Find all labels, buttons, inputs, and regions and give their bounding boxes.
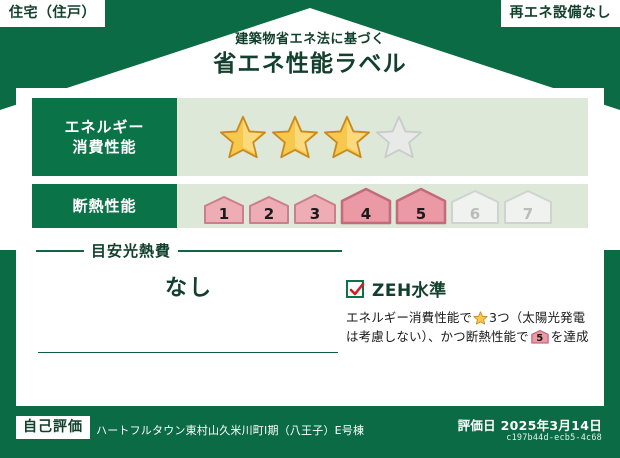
insulation-level-6: 6 — [450, 189, 500, 225]
house-badge-number: 5 — [531, 334, 549, 344]
label-footer: 自己評価 ハートフルタウン東村山久米川町Ⅰ期（八王子）E号棟 評価日 2025年… — [0, 406, 620, 458]
zeh-desc-part2: は考慮しない）、かつ断熱性能で — [346, 329, 529, 344]
zeh-header: ZEH水準 — [346, 276, 592, 301]
checkmark-icon — [346, 280, 364, 298]
insulation-level-number: 1 — [203, 207, 245, 222]
label-card: エネルギー 消費性能 — [16, 88, 604, 406]
badge-renewable-equipment: 再エネ設備なし — [501, 0, 620, 27]
insulation-level-4: 4 — [340, 187, 392, 225]
zeh-block: ZEH水準 エネルギー消費性能で3つ（太陽光発電は考慮しない）、かつ断熱性能で5… — [346, 276, 592, 347]
energy-performance-label: 住宅（住戸） 再エネ設備なし 建築物省エネ法に基づく 省エネ性能ラベル エネルギ… — [0, 0, 620, 458]
evaluation-id: c197b44d-ecb5-4c68 — [506, 433, 602, 443]
star-empty-icon — [375, 114, 423, 160]
zeh-desc-stars: 3つ（太陽光発電 — [489, 310, 585, 325]
zeh-title: ZEH水準 — [372, 276, 447, 301]
zeh-description: エネルギー消費性能で3つ（太陽光発電は考慮しない）、かつ断熱性能で5を達成 — [346, 308, 592, 347]
page-title: 省エネ性能ラベル — [0, 50, 620, 79]
title-subtitle: 建築物省エネ法に基づく — [0, 33, 620, 47]
insulation-level-number: 4 — [340, 207, 392, 222]
property-name: ハートフルタウン東村山久米川町Ⅰ期（八王子）E号棟 — [96, 422, 364, 438]
star-filled-icon — [271, 114, 319, 160]
star-rating — [219, 114, 423, 160]
energy-performance-label: エネルギー 消費性能 — [32, 98, 177, 176]
check-glyph-icon — [349, 282, 365, 298]
insulation-level-number: 2 — [248, 207, 290, 222]
energy-label-line1: エネルギー — [64, 117, 144, 137]
insulation-level-number: 3 — [293, 207, 337, 222]
energy-performance-value — [177, 98, 588, 176]
zeh-desc-part3: を達成 — [551, 329, 589, 344]
utility-cost-header: 目安光熱費 — [36, 240, 342, 261]
self-evaluation-badge: 自己評価 — [16, 416, 90, 439]
insulation-level-number: 7 — [503, 207, 553, 222]
evaluation-date: 評価日 2025年3月14日 — [458, 415, 602, 434]
insulation-label-text: 断熱性能 — [72, 196, 136, 216]
insulation-level-7: 7 — [503, 189, 553, 225]
star-filled-icon — [219, 114, 267, 160]
star-filled-icon — [473, 311, 488, 325]
insulation-performance-value: 1 2 3 — [177, 184, 588, 228]
divider-left — [36, 250, 84, 252]
insulation-level-3: 3 — [293, 193, 337, 225]
row-energy-performance: エネルギー 消費性能 — [32, 98, 588, 176]
zeh-desc-part1: エネルギー消費性能で — [346, 310, 472, 325]
title-block: 建築物省エネ法に基づく 省エネ性能ラベル — [0, 33, 620, 79]
energy-label-line2: 消費性能 — [72, 137, 136, 157]
utility-cost-value: なし — [36, 270, 342, 302]
star-filled-icon — [323, 114, 371, 160]
divider-right — [178, 250, 342, 252]
insulation-level-2: 2 — [248, 195, 290, 225]
insulation-scale: 1 2 3 — [203, 187, 553, 225]
insulation-level-5: 5 — [395, 187, 447, 225]
utility-cost-bottom-divider — [38, 352, 338, 353]
utility-cost-title: 目安光熱費 — [91, 240, 171, 261]
row-insulation-performance: 断熱性能 1 2 — [32, 184, 588, 228]
insulation-level-number: 5 — [395, 207, 447, 222]
badge-building-type: 住宅（住戸） — [0, 0, 105, 27]
house-badge-icon: 5 — [531, 329, 549, 345]
insulation-performance-label: 断熱性能 — [32, 184, 177, 228]
insulation-level-1: 1 — [203, 195, 245, 225]
insulation-level-number: 6 — [450, 207, 500, 222]
